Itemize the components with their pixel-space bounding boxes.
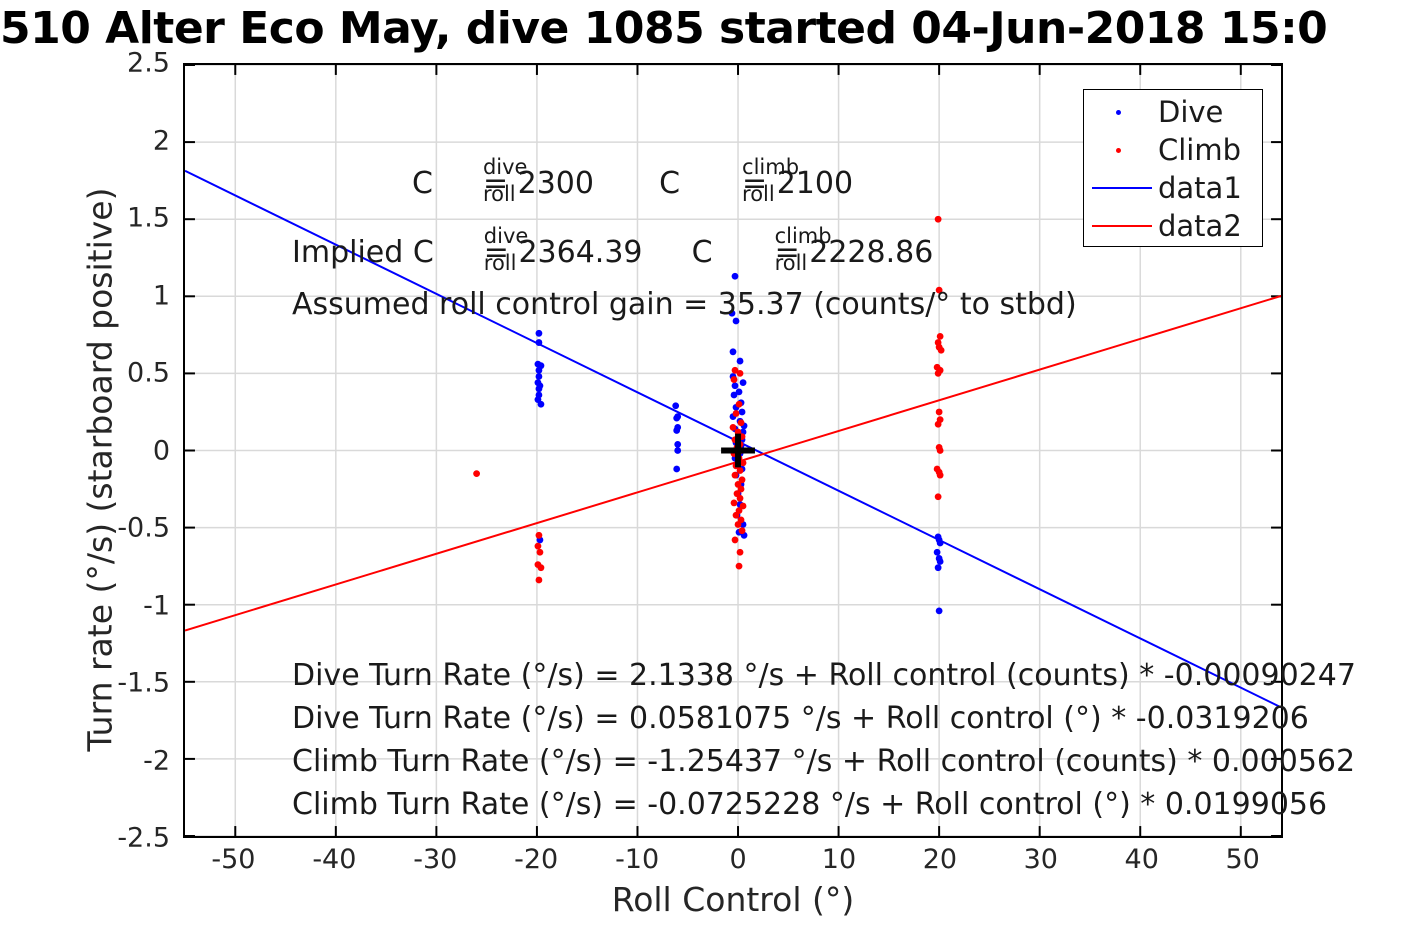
legend-item-data1: data1 [1084, 169, 1262, 207]
origin-marker-icon [721, 434, 755, 468]
implied-c-roll-dive-symbol: Cdiveroll [413, 237, 484, 269]
annotation-coefficients: Cdiveroll= 2300 Cclimbroll= 2100 [412, 168, 853, 200]
legend-dive-dot-icon [1084, 93, 1158, 131]
scatter-points [473, 216, 944, 614]
legend-item-dive: Dive [1084, 93, 1262, 131]
legend-label-data1: data1 [1158, 169, 1242, 207]
y-tick-label: 2.5 [0, 48, 170, 79]
equation-climb-counts: Climb Turn Rate (°/s) = -1.25437 °/s + R… [292, 744, 1355, 779]
c-roll-climb-symbol: Cclimbroll [659, 168, 742, 200]
legend-label-dive: Dive [1158, 93, 1223, 131]
legend-data1-line-icon [1084, 169, 1158, 207]
y-axis-label: Turn rate (°/s) (starboard positive) [81, 120, 120, 820]
legend-item-climb: Climb [1084, 131, 1262, 169]
x-axis-label: Roll Control (°) [183, 880, 1283, 919]
equation-climb-degrees: Climb Turn Rate (°/s) = -0.0725228 °/s +… [292, 787, 1327, 822]
page-title: 510 Alter Eco May, dive 1085 started 04-… [0, 2, 1417, 56]
equation-dive-counts: Dive Turn Rate (°/s) = 2.1338 °/s + Roll… [292, 658, 1356, 693]
annotation-implied-coefficients: Implied Cdiveroll= 2364.39 Cclimbroll= 2… [292, 237, 933, 269]
implied-c-roll-climb-symbol: Cclimbroll [692, 237, 775, 269]
legend-climb-dot-icon [1084, 131, 1158, 169]
y-tick-label: -2.5 [0, 823, 170, 854]
c-roll-dive-symbol: Cdiveroll [412, 168, 483, 200]
annotation-roll-gain: Assumed roll control gain = 35.37 (count… [292, 289, 1077, 321]
legend: Dive Climb data1 data2 [1083, 89, 1263, 247]
legend-item-data2: data2 [1084, 207, 1262, 245]
x-tick-label: 50 [1183, 844, 1303, 875]
legend-label-climb: Climb [1158, 131, 1241, 169]
legend-label-data2: data2 [1158, 207, 1242, 245]
equation-dive-degrees: Dive Turn Rate (°/s) = 0.0581075 °/s + R… [292, 701, 1309, 736]
implied-prefix: Implied [292, 235, 413, 270]
figure-container: 510 Alter Eco May, dive 1085 started 04-… [0, 0, 1417, 945]
legend-data2-line-icon [1084, 207, 1158, 245]
